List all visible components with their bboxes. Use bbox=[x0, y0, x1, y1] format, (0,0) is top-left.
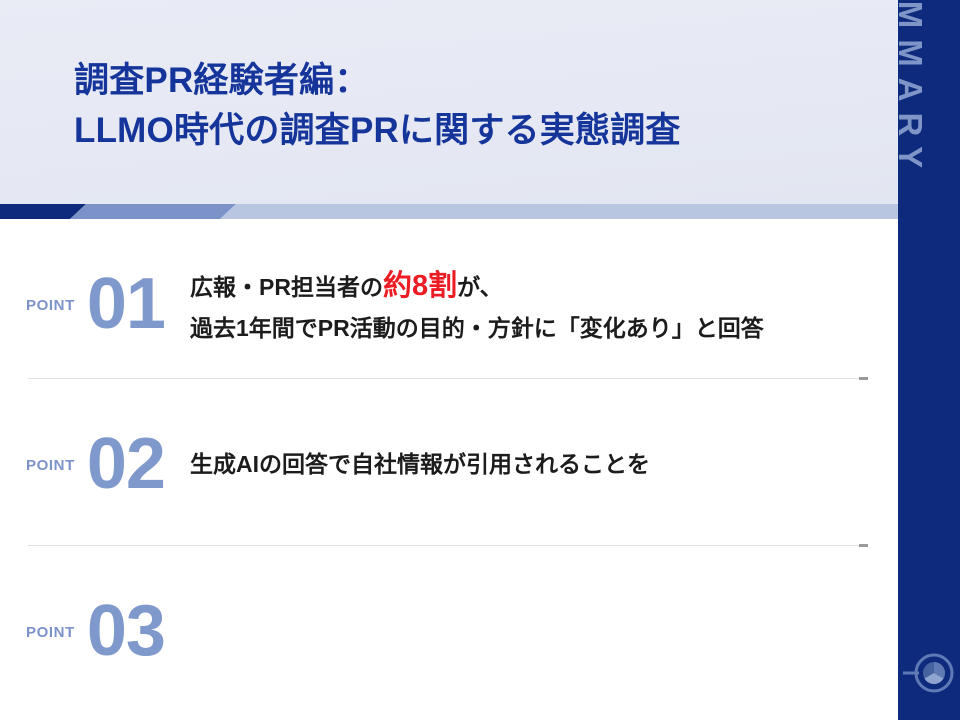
header-band: 調査PR経験者編： LLMO時代の調査PRに関する実態調査 bbox=[0, 0, 898, 205]
divider-1 bbox=[28, 378, 860, 379]
page-title: 調査PR経験者編： LLMO時代の調査PRに関する実態調査 bbox=[74, 56, 681, 155]
point-kicker: POINT bbox=[26, 457, 75, 474]
point-row: POINT 03 bbox=[0, 567, 898, 697]
point-text-run: 過去1年間でPR活動の目的・方針に「変化あり」と回答 bbox=[190, 315, 764, 341]
points-list: POINT 01 広報・PR担当者の約8割が、過去1年間でPR活動の目的・方針に… bbox=[0, 219, 898, 720]
accent-segment-mid bbox=[70, 204, 236, 219]
point-number: 01 bbox=[87, 274, 165, 336]
point-body: 広報・PR担当者の約8割が、過去1年間でPR活動の目的・方針に「変化あり」と回答 bbox=[190, 263, 898, 347]
point-text-run: が、 bbox=[457, 274, 503, 300]
point-number: 02 bbox=[87, 434, 165, 496]
accent-segment-light bbox=[220, 204, 898, 219]
point-line: 過去1年間でPR活動の目的・方針に「変化あり」と回答 bbox=[190, 310, 878, 347]
point-body: 生成AIの回答で自社情報が引用されることを bbox=[190, 445, 898, 485]
divider-2 bbox=[28, 545, 860, 546]
sidebar-label-summary: SUMMARY bbox=[891, 0, 929, 179]
point-line: 生成AIの回答で自社情報が引用されることを bbox=[190, 445, 878, 485]
point-row: POINT 02 生成AIの回答で自社情報が引用されることを bbox=[0, 385, 898, 545]
point-kicker: POINT bbox=[26, 624, 75, 641]
point-marker: POINT 03 bbox=[0, 601, 190, 663]
point-kicker: POINT bbox=[26, 297, 75, 314]
point-row: POINT 01 広報・PR担当者の約8割が、過去1年間でPR活動の目的・方針に… bbox=[0, 245, 898, 365]
sidebar: SUMMARY bbox=[898, 0, 960, 720]
slide: 調査PR経験者編： LLMO時代の調査PRに関する実態調査 SUMMARY bbox=[0, 0, 960, 720]
point-highlight-run: 約8割 bbox=[383, 270, 457, 302]
point-line: 広報・PR担当者の約8割が、 bbox=[190, 263, 878, 310]
point-text-run: 広報・PR担当者の bbox=[190, 274, 383, 300]
point-marker: POINT 02 bbox=[0, 434, 190, 496]
point-marker: POINT 01 bbox=[0, 274, 190, 336]
point-text-run: 生成AIの回答で自社情報が引用されることを bbox=[190, 451, 650, 477]
divider-cap bbox=[859, 377, 868, 380]
point-number: 03 bbox=[87, 601, 165, 663]
circle-logo-icon bbox=[903, 650, 955, 696]
accent-bar bbox=[0, 204, 898, 219]
